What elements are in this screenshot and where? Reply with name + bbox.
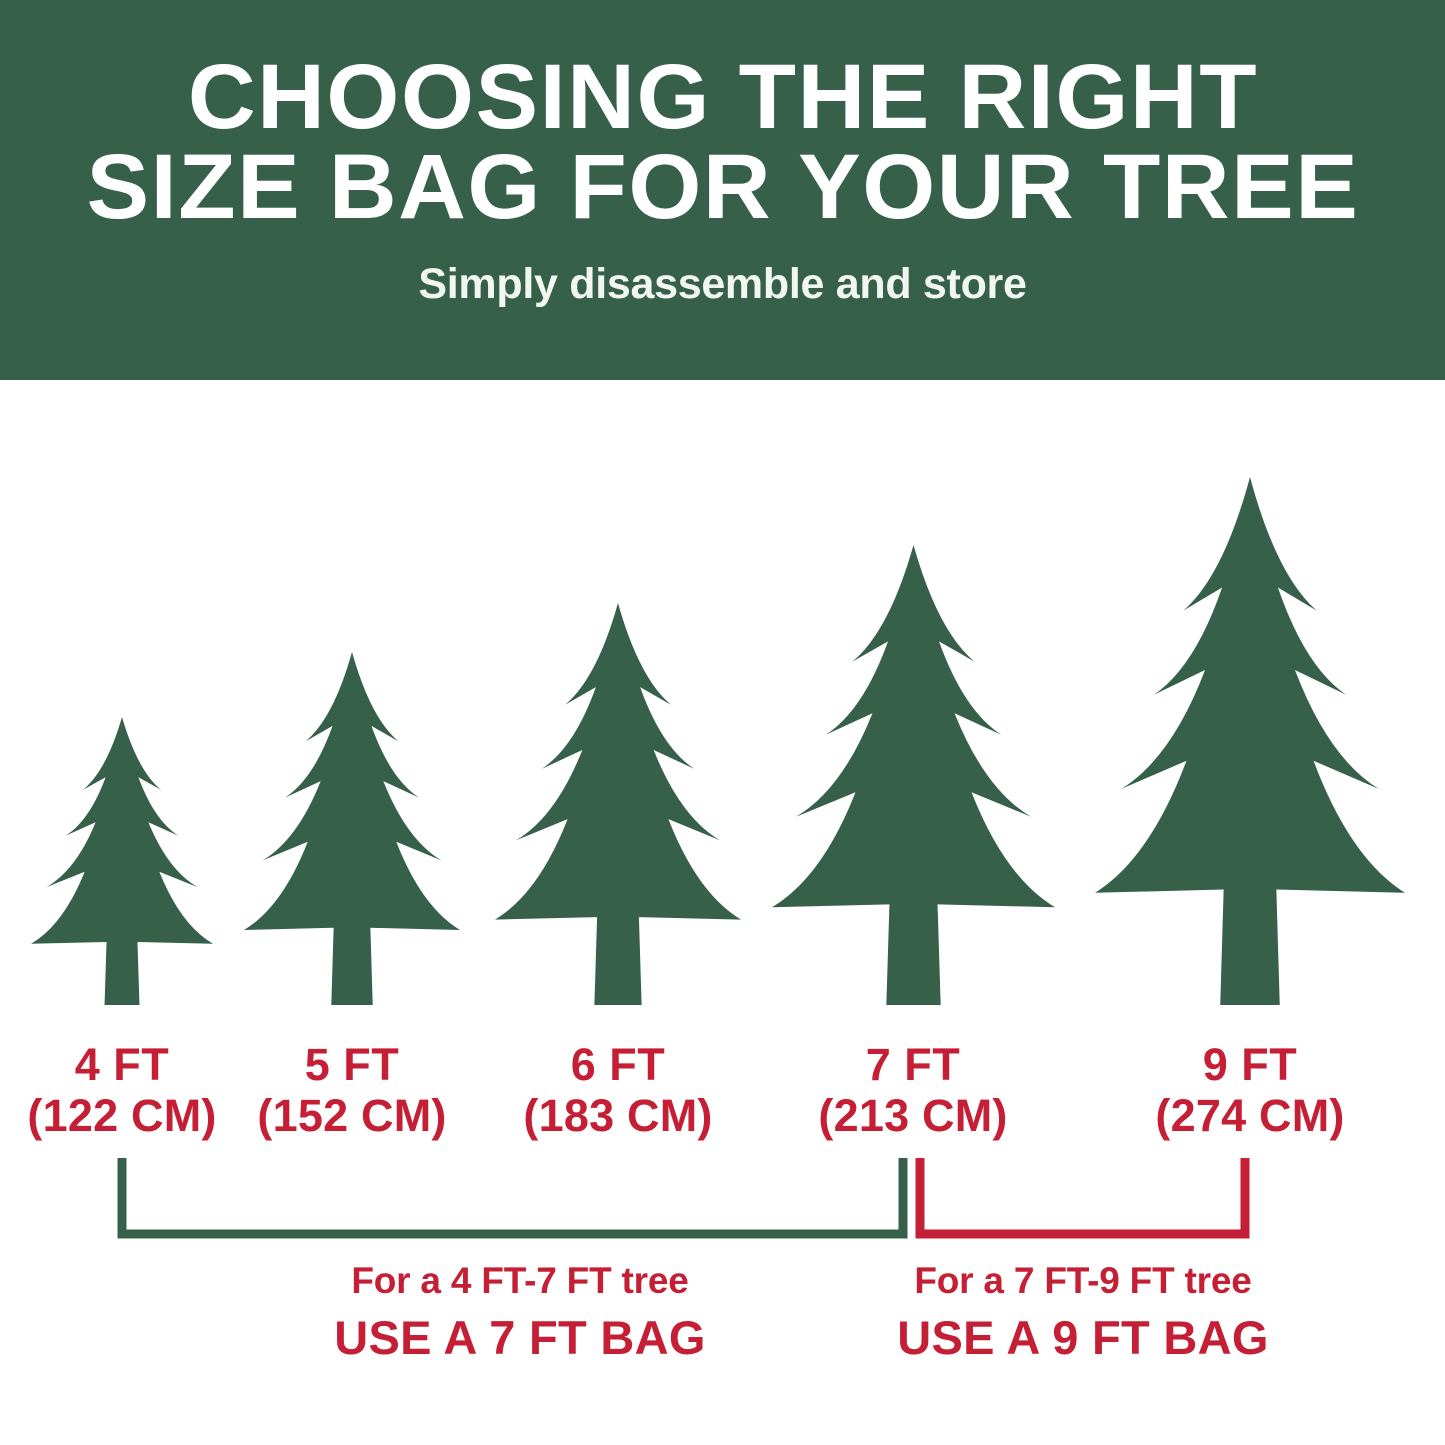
- size-label-feet: 9 FT: [1155, 1042, 1344, 1088]
- page-subtitle: Simply disassemble and store: [418, 260, 1026, 309]
- bracket-green: [122, 1158, 903, 1234]
- size-label-cm: (213 CM): [818, 1093, 1007, 1139]
- recommendation-range: For a 4 FT-7 FT tree: [334, 1260, 706, 1302]
- size-label-7ft: 7 FT (213 CM): [818, 1042, 1007, 1139]
- size-label-cm: (152 CM): [257, 1093, 446, 1139]
- size-label-cm: (274 CM): [1155, 1093, 1344, 1139]
- recommendation-bag: USE A 9 FT BAG: [897, 1310, 1269, 1365]
- tree-5ft: [244, 652, 460, 1005]
- size-label-cm: (122 CM): [27, 1093, 216, 1139]
- tree-9ft-shape: [1095, 477, 1405, 1005]
- recommendation-bag: USE A 7 FT BAG: [334, 1310, 706, 1365]
- size-label-feet: 7 FT: [818, 1042, 1007, 1088]
- tree-7ft: [772, 545, 1055, 1005]
- page-title: CHOOSING THE RIGHT SIZE BAG FOR YOUR TRE…: [86, 52, 1359, 232]
- size-label-6ft: 6 FT (183 CM): [523, 1042, 712, 1139]
- tree-6ft: [495, 603, 741, 1005]
- bracket-red: [920, 1158, 1245, 1234]
- recommendation-9ft-bag: For a 7 FT-9 FT tree USE A 9 FT BAG: [897, 1260, 1269, 1365]
- tree-4ft: [31, 717, 213, 1005]
- size-label-feet: 5 FT: [257, 1042, 446, 1088]
- size-label-4ft: 4 FT (122 CM): [27, 1042, 216, 1139]
- size-label-5ft: 5 FT (152 CM): [257, 1042, 446, 1139]
- size-label-feet: 4 FT: [27, 1042, 216, 1088]
- tree-9ft: [1095, 477, 1405, 1005]
- size-label-9ft: 9 FT (274 CM): [1155, 1042, 1344, 1139]
- size-label-feet: 6 FT: [523, 1042, 712, 1088]
- tree-7ft-shape: [772, 545, 1055, 1005]
- tree-6ft-shape: [495, 603, 741, 1005]
- tree-5ft-shape: [244, 652, 460, 1005]
- recommendation-7ft-bag: For a 4 FT-7 FT tree USE A 7 FT BAG: [334, 1260, 706, 1365]
- size-label-row: 4 FT (122 CM) 5 FT (152 CM) 6 FT (183 CM…: [0, 1042, 1445, 1152]
- header-banner: CHOOSING THE RIGHT SIZE BAG FOR YOUR TRE…: [0, 0, 1445, 380]
- size-label-cm: (183 CM): [523, 1093, 712, 1139]
- tree-size-illustration: [0, 380, 1445, 1020]
- tree-4ft-shape: [31, 717, 213, 1005]
- recommendation-range: For a 7 FT-9 FT tree: [897, 1260, 1269, 1302]
